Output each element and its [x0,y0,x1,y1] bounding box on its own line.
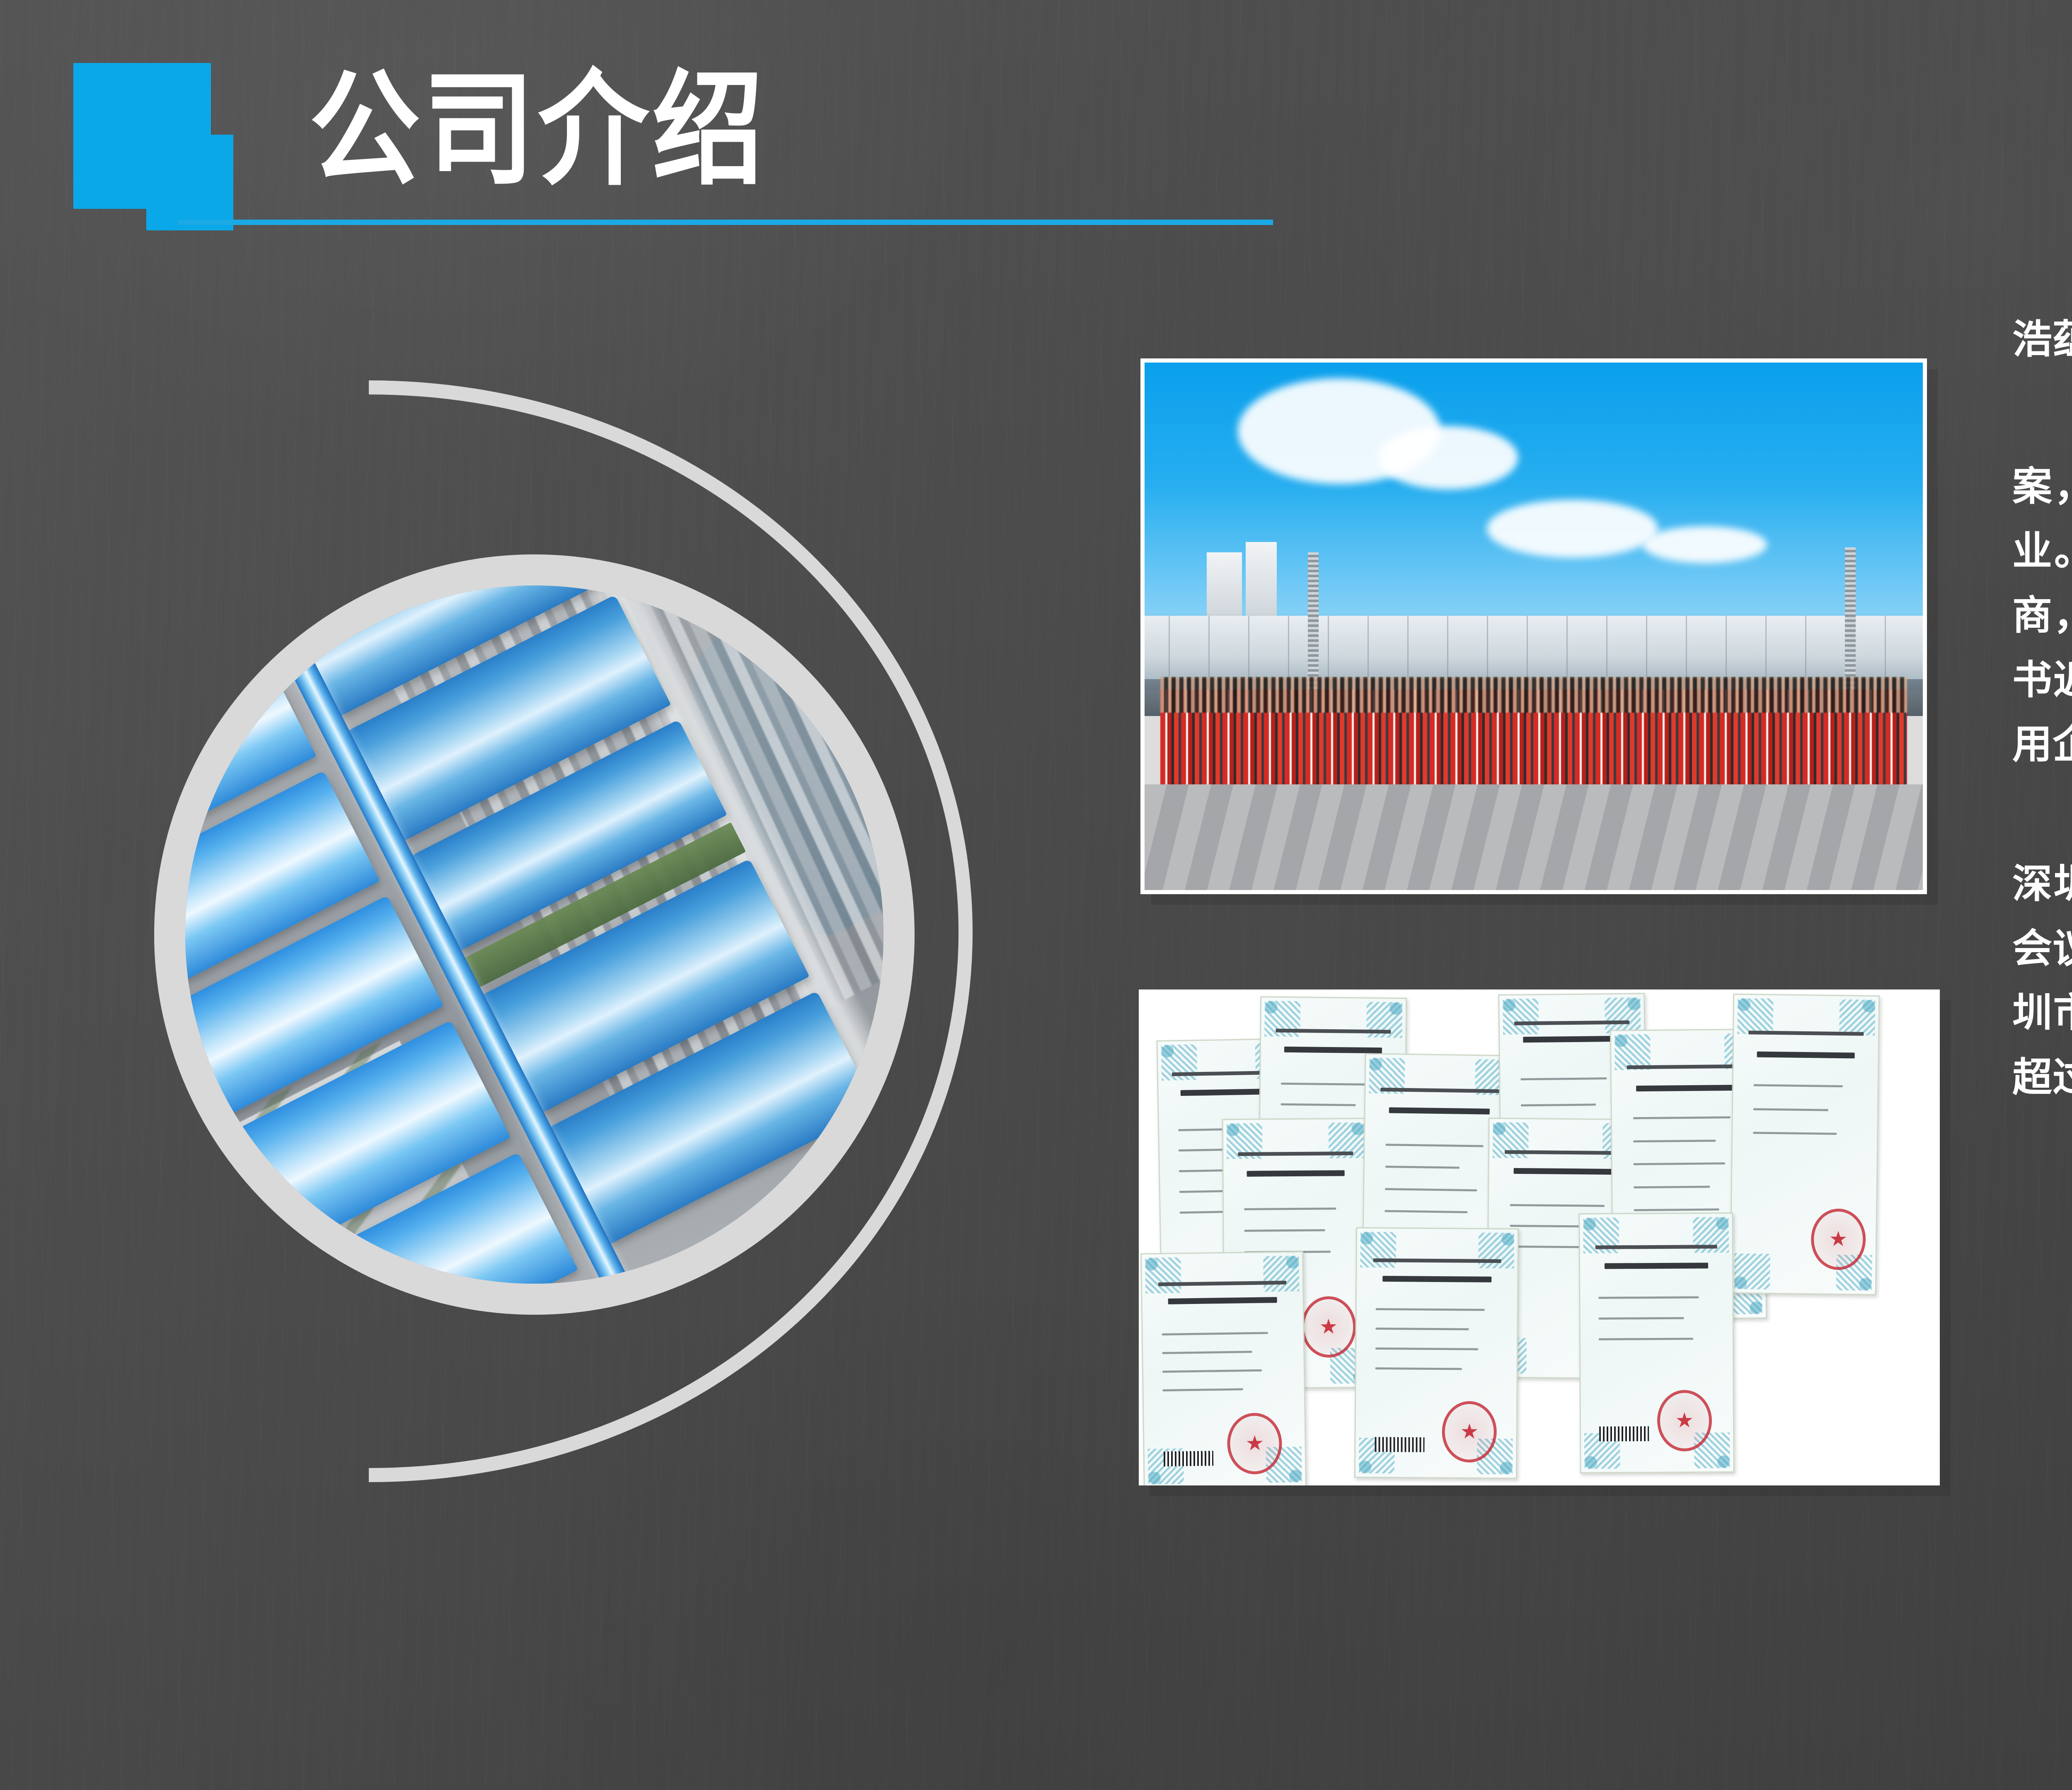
page-title: 公司介绍 [309,64,767,196]
aerial-convention-center-image [185,585,884,1284]
paragraph-one: 公司创办于2021年，深耕人脸识别/物联网 智能解决方案，是较早一批人脸识别设备… [2012,390,2072,777]
software-copyright-certificates-image [1139,989,1940,1485]
company-description-block: 浩蕴（深圳）智能科技有限公司 公司创办于2021年，深耕人脸识别/物联网 智能解… [2012,307,2072,1120]
title-underline [178,220,1273,225]
company-name: 浩蕴（深圳）智能科技有限公司 [2012,307,2072,372]
slide-canvas: 公司介绍 [0,0,2072,1790]
circle-frame [154,554,915,1315]
paragraph-two: 先后服务华为生态大会、研发者大会、 深圳国际家具展、深圳国际家纺展、中欧博览会、… [2012,788,2072,1110]
staff-group-photo [1140,358,1927,894]
accent-square-small [146,135,233,230]
